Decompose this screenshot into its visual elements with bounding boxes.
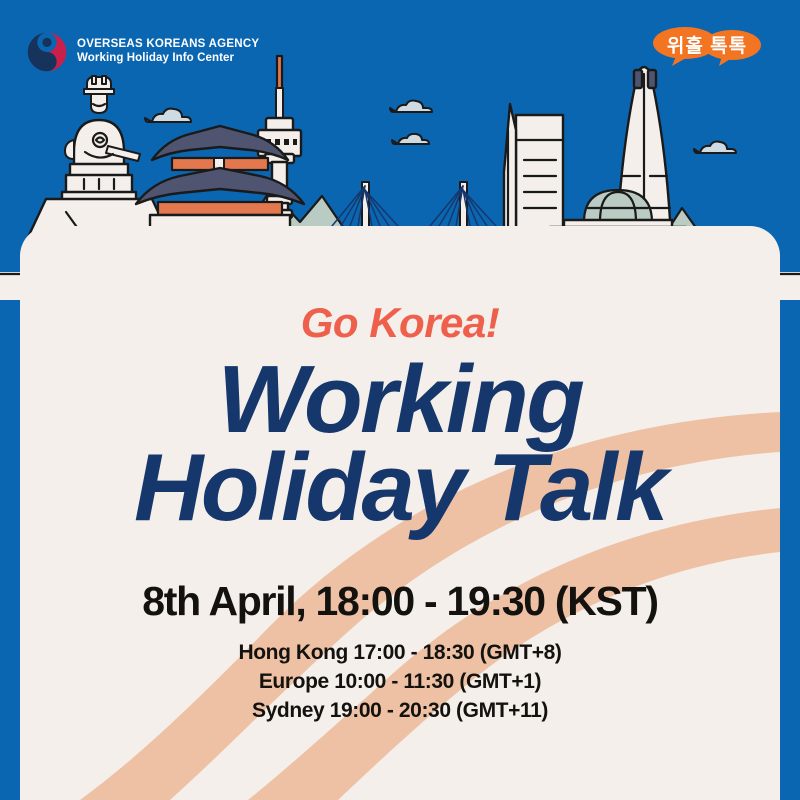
title-line-1: Working	[134, 354, 666, 446]
logo-lockup[interactable]: OVERSEAS KOREANS AGENCY Working Holiday …	[26, 31, 259, 73]
timezone-row: Europe 10:00 - 11:30 (GMT+1)	[238, 670, 561, 694]
org-subtitle: Working Holiday Info Center	[77, 52, 259, 66]
event-datetime: 8th April, 18:00 - 19:30 (KST)	[142, 578, 657, 625]
eyebrow-text: Go Korea!	[301, 302, 500, 344]
poster-root: .bl { fill:#f4efea; stroke:#1a1a1a; stro…	[0, 0, 800, 800]
timezone-row: Hong Kong 17:00 - 18:30 (GMT+8)	[238, 641, 561, 665]
header: OVERSEAS KOREANS AGENCY Working Holiday …	[0, 0, 800, 110]
logo-text-block: OVERSEAS KOREANS AGENCY Working Holiday …	[77, 38, 259, 65]
content-card: Go Korea! Working Holiday Talk 8th April…	[20, 226, 780, 800]
timezone-list: Hong Kong 17:00 - 18:30 (GMT+8) Europe 1…	[238, 641, 561, 723]
taegeuk-swirl-logo-icon	[26, 31, 68, 73]
org-name: OVERSEAS KOREANS AGENCY	[77, 38, 259, 52]
timezone-row: Sydney 19:00 - 20:30 (GMT+11)	[238, 699, 561, 723]
badge-speech-bubbles[interactable]: 위홀 톡톡	[652, 22, 762, 67]
page-title: Working Holiday Talk	[134, 354, 666, 534]
badge-label: 위홀 톡톡	[652, 22, 762, 67]
card-content: Go Korea! Working Holiday Talk 8th April…	[20, 226, 780, 800]
title-line-2: Holiday Talk	[134, 442, 666, 534]
